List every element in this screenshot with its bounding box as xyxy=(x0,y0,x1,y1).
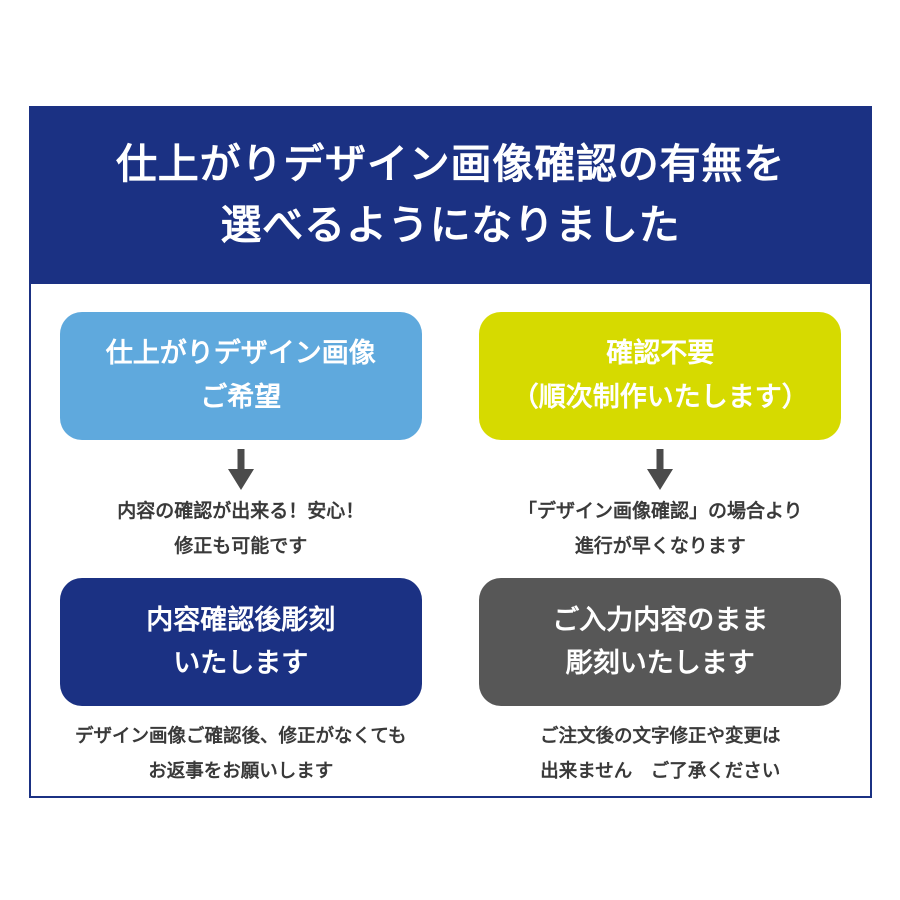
note-right-line-1: 「デザイン画像確認」の場合より xyxy=(518,494,803,529)
down-arrow-icon-right-wrap xyxy=(645,448,675,492)
caption-left-line-2: お返事をお願いします xyxy=(75,754,407,788)
comparison-body: 仕上がりデザイン画像 ご希望 内容の確認が出来る！安心！ 修正も可能です 内容確… xyxy=(31,284,870,798)
infographic-frame: 仕上がりデザイン画像確認の有無を 選べるようになりました 仕上がりデザイン画像 … xyxy=(29,106,872,798)
option-box-no-check-needed[interactable]: 確認不要 （順次制作いたします） xyxy=(479,312,841,440)
note-left-line-2: 修正も可能です xyxy=(117,529,364,564)
option-box-line-2: （順次制作いたします） xyxy=(512,376,809,420)
note-benefit-right: 「デザイン画像確認」の場合より 進行が早くなります xyxy=(518,494,803,564)
down-arrow-icon xyxy=(645,449,675,491)
result-box-line-1: 内容確認後彫刻 xyxy=(146,599,335,643)
caption-left-line-1: デザイン画像ご確認後、修正がなくても xyxy=(75,719,407,753)
header-banner: 仕上がりデザイン画像確認の有無を 選べるようになりました xyxy=(29,106,872,284)
column-design-check-requested: 仕上がりデザイン画像 ご希望 内容の確認が出来る！安心！ 修正も可能です 内容確… xyxy=(31,284,451,798)
option-box-line-1: 仕上がりデザイン画像 xyxy=(106,332,376,376)
note-right-line-2: 進行が早くなります xyxy=(518,529,803,564)
down-arrow-icon-left-wrap xyxy=(226,448,256,492)
result-box-line-2: 彫刻いたします xyxy=(566,642,755,686)
result-box-engrave-as-entered[interactable]: ご入力内容のまま 彫刻いたします xyxy=(479,578,841,706)
column-design-check-not-needed: 確認不要 （順次制作いたします） 「デザイン画像確認」の場合より 進行が早くなり… xyxy=(451,284,871,798)
result-box-line-2: いたします xyxy=(173,642,308,686)
caption-left: デザイン画像ご確認後、修正がなくても お返事をお願いします xyxy=(75,719,407,787)
note-left-line-1: 内容の確認が出来る！安心！ xyxy=(117,494,364,529)
down-arrow-icon xyxy=(226,449,256,491)
caption-right-line-2: 出来ません ご了承ください xyxy=(540,754,781,788)
caption-right: ご注文後の文字修正や変更は 出来ません ご了承ください xyxy=(540,719,781,787)
caption-right-line-1: ご注文後の文字修正や変更は xyxy=(540,719,781,753)
header-title-line-1: 仕上がりデザイン画像確認の有無を xyxy=(116,134,785,195)
header-title-line-2: 選べるようになりました xyxy=(220,195,680,256)
note-benefit-left: 内容の確認が出来る！安心！ 修正も可能です xyxy=(117,494,364,564)
option-box-line-2: ご希望 xyxy=(200,376,281,420)
result-box-line-1: ご入力内容のまま xyxy=(552,599,768,643)
option-box-design-image-requested[interactable]: 仕上がりデザイン画像 ご希望 xyxy=(60,312,422,440)
option-box-line-1: 確認不要 xyxy=(606,332,714,376)
result-box-engrave-after-check[interactable]: 内容確認後彫刻 いたします xyxy=(60,578,422,706)
